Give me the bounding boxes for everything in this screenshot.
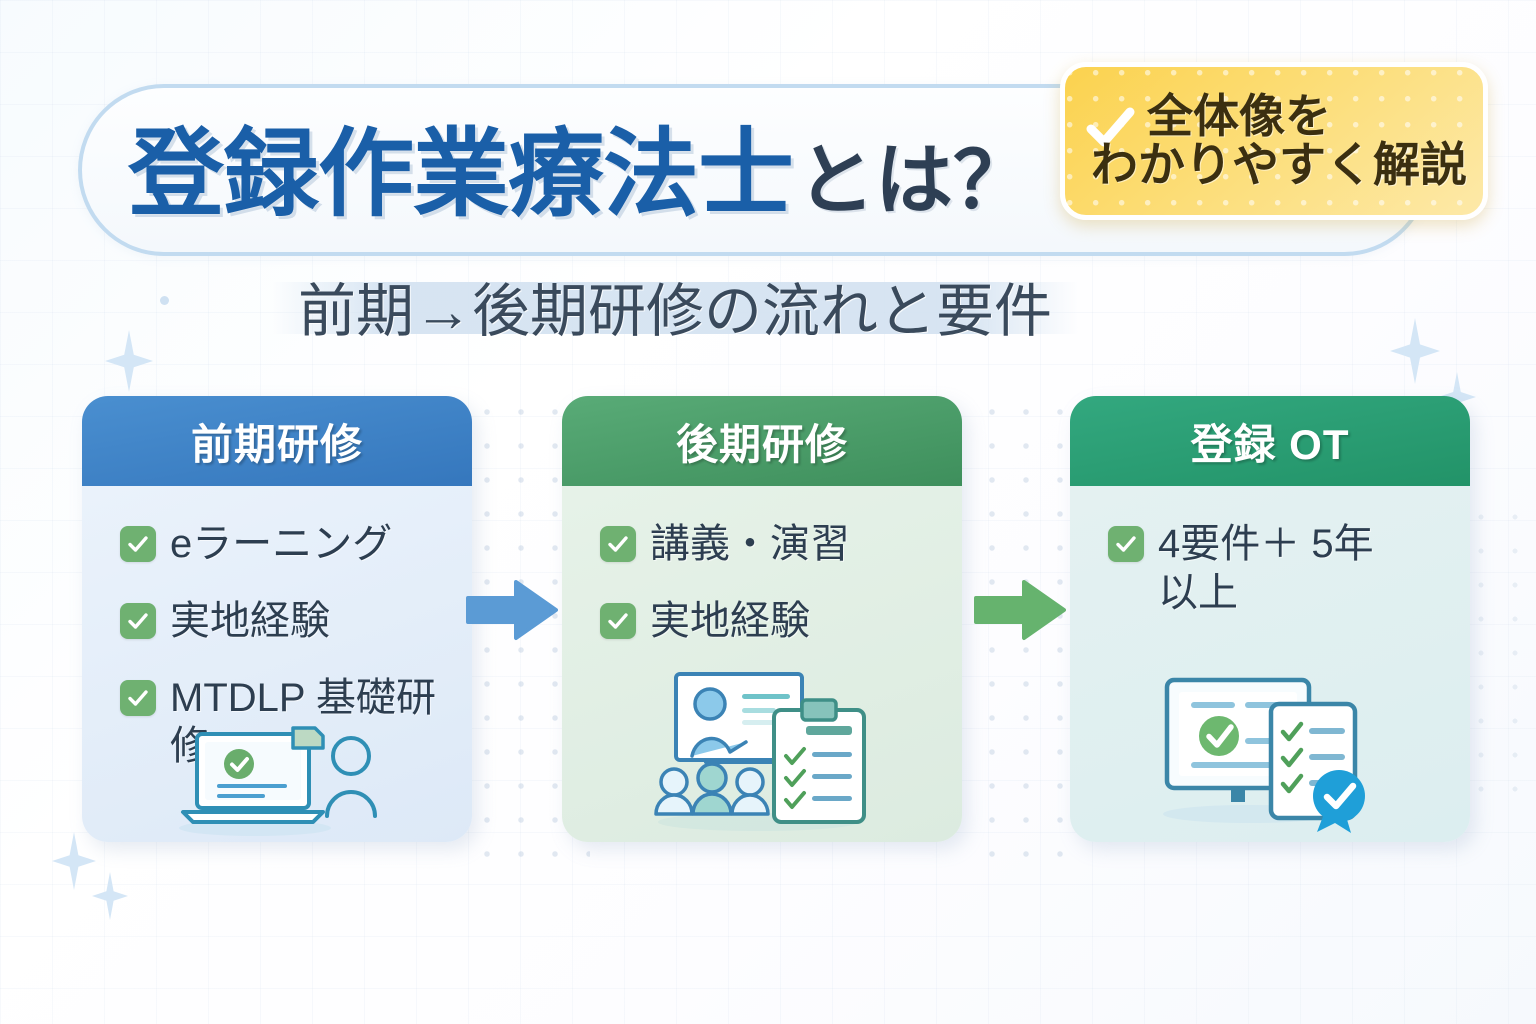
checklist-item: eラーニング [120, 520, 446, 569]
checklist-item: 実地経験 [600, 597, 936, 646]
elearning-laptop-illustration [82, 716, 472, 836]
sparkle-icon [105, 330, 153, 392]
page-title-tail: とは？ [797, 118, 1031, 230]
check-icon [120, 603, 156, 639]
stage-card-body: 講義・演習 実地経験 [562, 486, 962, 842]
highlight-badge-line-2: わかりやすく解説 [1091, 140, 1467, 190]
check-icon [600, 526, 636, 562]
checklist-item-label: eラーニング [170, 520, 392, 569]
certificate-badge-illustration [1070, 666, 1470, 836]
highlight-badge: 全体像を わかりやすく解説 [1060, 62, 1488, 220]
check-icon [120, 680, 156, 716]
lecture-audience-illustration [562, 664, 962, 832]
stage-card-body: eラーニング 実地経験 MTDLP 基礎研修 [82, 486, 472, 842]
checklist-item-label: 実地経験 [650, 597, 810, 646]
checklist-item-label: 実地経験 [170, 597, 330, 646]
page-subtitle: 前期→後期研修の流れと要件 [272, 264, 1078, 348]
stage-card-title: 登録 OT [1191, 411, 1350, 472]
sparkle-icon [92, 872, 128, 920]
highlight-badge-text: 全体像を わかりやすく解説 [1147, 92, 1467, 191]
stage-card-header: 登録 OT [1070, 396, 1470, 486]
checklist-item: 実地経験 [120, 597, 446, 646]
stage-card-registered-ot: 登録 OT 4要件＋ 5年以上 [1070, 396, 1470, 842]
page-title: 登録作業療法士 とは？ [128, 96, 1031, 235]
stage-card-zenki: 前期研修 eラーニング 実地経験 MTDLP 基礎研修 [82, 396, 472, 842]
checklist-item-label: 4要件＋ 5年以上 [1158, 520, 1388, 618]
checklist-item: 4要件＋ 5年以上 [1108, 520, 1444, 618]
checklist-item: 講義・演習 [600, 520, 936, 569]
stage-card-body: 4要件＋ 5年以上 [1070, 486, 1470, 842]
checklist-item-label: 講義・演習 [650, 520, 850, 569]
infographic-canvas: 登録作業療法士 とは？ 全体像を わかりやすく解説 前期→後期研修の流れと要件 … [0, 0, 1536, 1024]
check-icon [120, 526, 156, 562]
page-title-main: 登録作業療法士 [128, 96, 793, 235]
highlight-badge-line-1: 全体像を [1147, 92, 1467, 141]
stage-card-header: 前期研修 [82, 396, 472, 486]
stage-card-title: 後期研修 [676, 411, 848, 472]
arrow-stage1-to-stage2-icon [466, 576, 558, 649]
check-icon [600, 603, 636, 639]
arrow-stage2-to-stage3-icon [974, 576, 1066, 649]
sparkle-icon [1390, 318, 1440, 384]
decorative-dot [160, 296, 169, 305]
stage-card-header: 後期研修 [562, 396, 962, 486]
stage-card-kouki: 後期研修 講義・演習 実地経験 [562, 396, 962, 842]
check-icon [1108, 526, 1144, 562]
stage-card-title: 前期研修 [191, 411, 363, 472]
